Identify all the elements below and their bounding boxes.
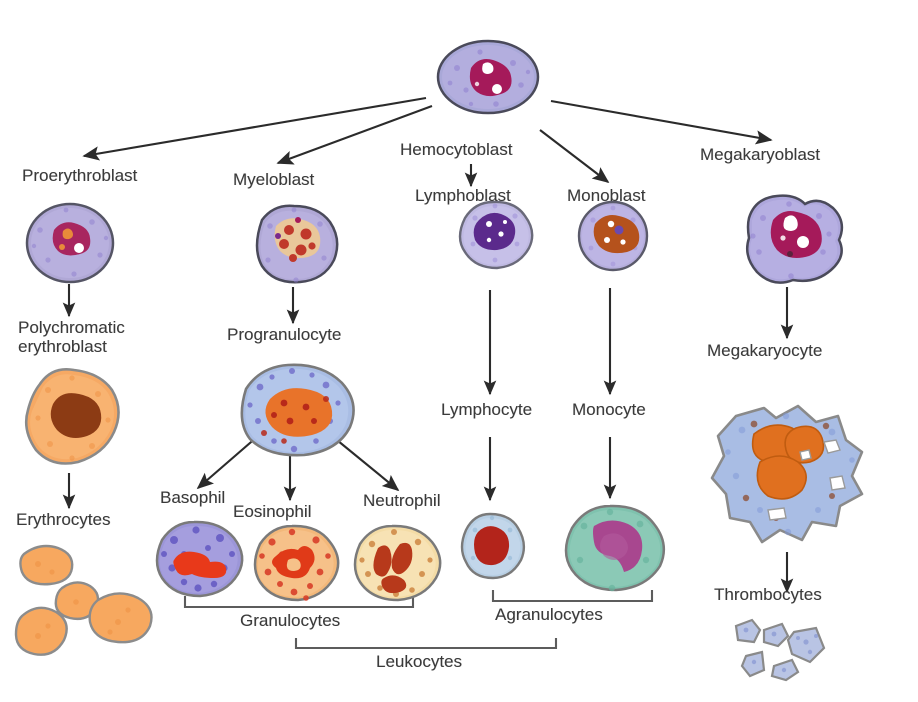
hemocytoblast-cell (433, 38, 543, 116)
erythrocyte-cell (20, 546, 72, 584)
label-hemocytoblast: Hemocytoblast (400, 140, 512, 159)
erythrocytes-cluster (18, 538, 164, 668)
label-polychromatic-2: erythroblast (18, 337, 107, 356)
hematopoiesis-diagram: Hemocytoblast Proerythroblast Polychroma… (0, 0, 918, 702)
arrow-hemocytoblast-to-proerythroblast (84, 98, 426, 156)
monocyte-cell (560, 500, 664, 600)
neutrophil-cell (348, 520, 444, 604)
label-lymphocyte: Lymphocyte (441, 400, 532, 419)
label-neutrophil: Neutrophil (363, 491, 441, 510)
label-basophil: Basophil (160, 488, 225, 507)
myeloblast-cell (244, 198, 344, 290)
arrow-hemocytoblast-to-megakaryoblast (551, 101, 771, 140)
thrombocytes-cluster (730, 618, 850, 692)
label-megakaryoblast: Megakaryoblast (700, 145, 820, 164)
thrombocyte-cell (788, 628, 824, 662)
progranulocyte-cell (230, 355, 358, 461)
polychromatic-erythroblast-cell (20, 360, 124, 470)
eosinophil-cell (248, 520, 342, 604)
arrow-hemocytoblast-to-monoblast (540, 130, 608, 182)
label-proerythroblast: Proerythroblast (22, 166, 137, 185)
label-myeloblast: Myeloblast (233, 170, 314, 189)
label-polychromatic-1: Polychromatic (18, 318, 125, 337)
megakaryoblast-cell (735, 190, 845, 290)
label-monoblast: Monoblast (567, 186, 645, 205)
thrombocyte-cell (742, 652, 764, 676)
label-erythrocytes: Erythrocytes (16, 510, 110, 529)
label-eosinophil: Eosinophil (233, 502, 311, 521)
lymphoblast-cell (455, 196, 535, 272)
erythrocyte-cell (90, 593, 152, 642)
label-lymphoblast: Lymphoblast (415, 186, 511, 205)
label-monocyte: Monocyte (572, 400, 646, 419)
label-megakaryocyte: Megakaryocyte (707, 341, 822, 360)
label-leukocytes: Leukocytes (376, 652, 462, 671)
erythrocyte-cell (16, 608, 67, 655)
label-agranulocytes: Agranulocytes (495, 605, 603, 624)
label-progranulocyte: Progranulocyte (227, 325, 341, 344)
proerythroblast-cell (22, 200, 118, 286)
basophil-cell (150, 516, 246, 600)
label-thrombocytes: Thrombocytes (714, 585, 822, 604)
lymphocyte-cell (458, 508, 526, 584)
bracket-leukocytes (296, 639, 556, 648)
megakaryocyte-cell (706, 390, 872, 556)
label-granulocytes: Granulocytes (240, 611, 340, 630)
monoblast-cell (575, 198, 651, 274)
